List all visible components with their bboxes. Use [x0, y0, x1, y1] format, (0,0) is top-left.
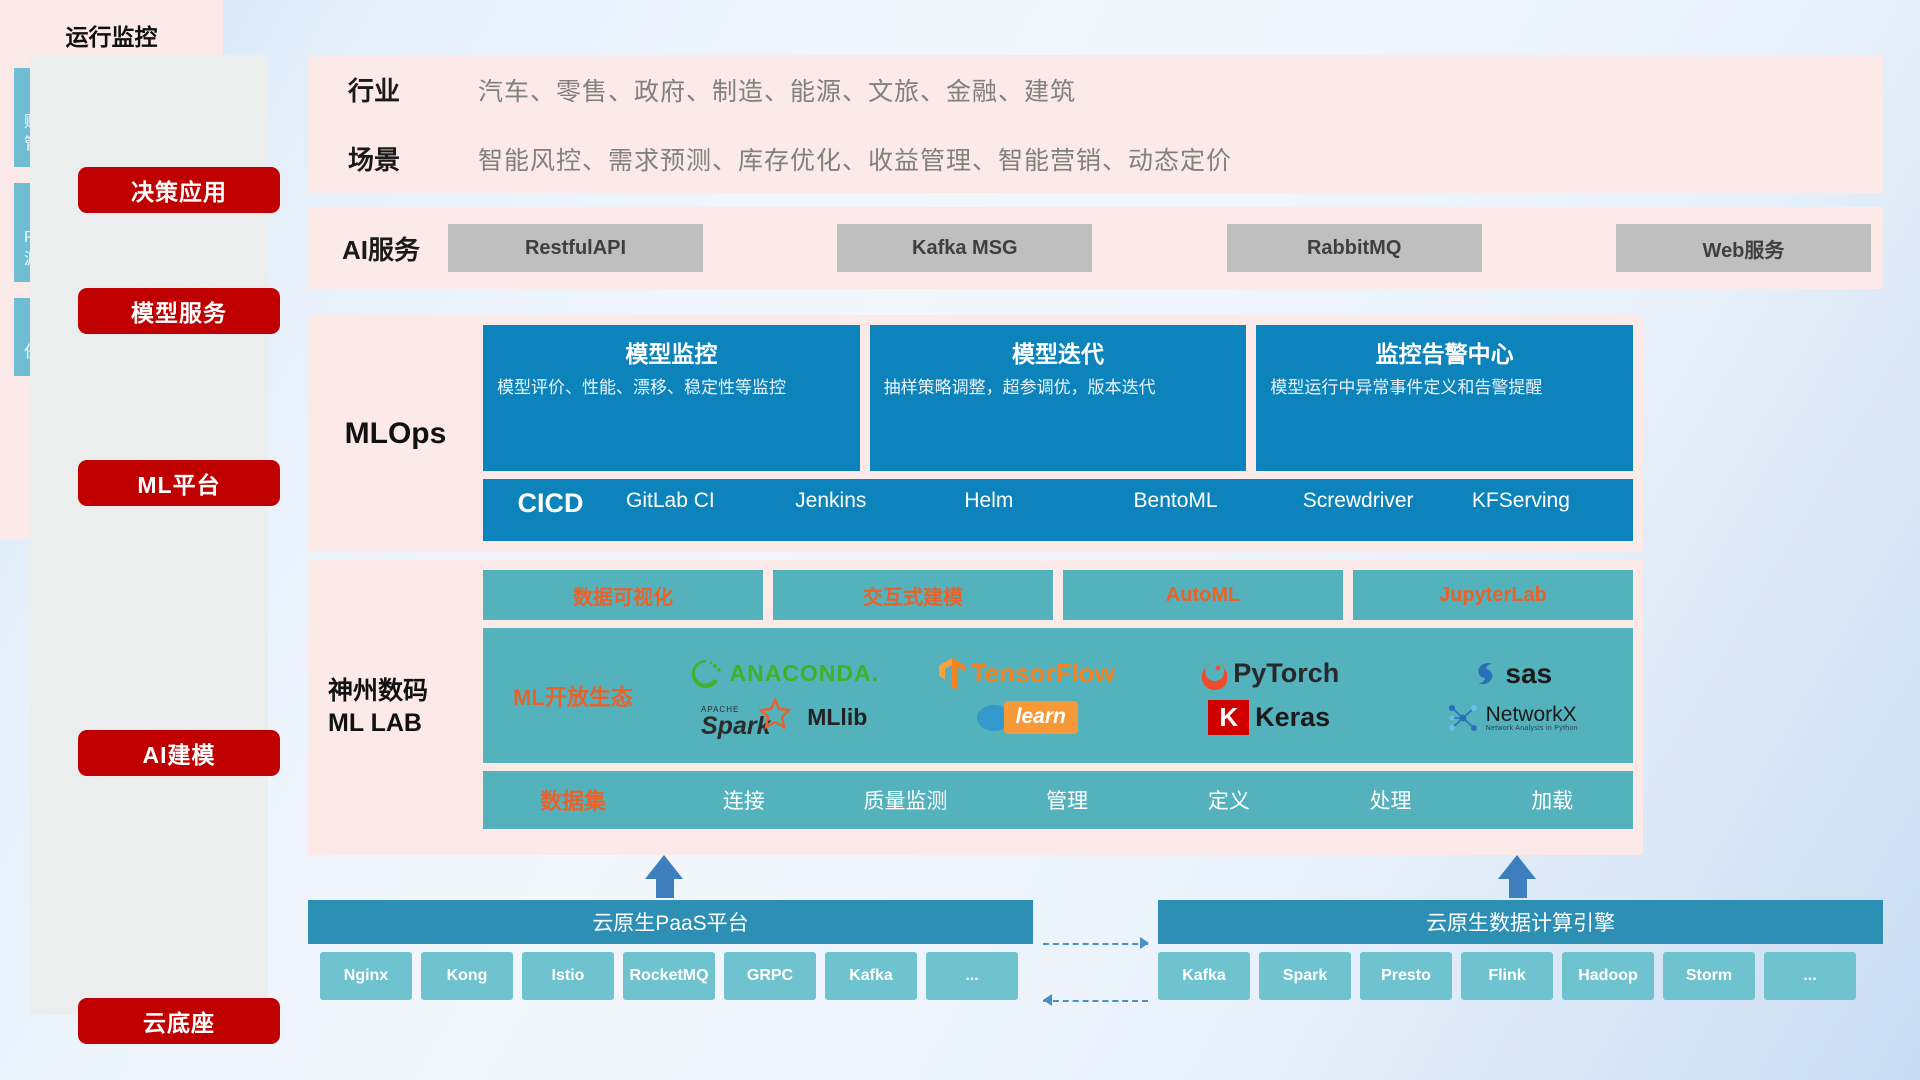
tab-data-visualization[interactable]: 数据可视化 — [483, 570, 763, 620]
scikit-learn-logo-text: learn — [1004, 701, 1078, 734]
scenario-label: 场景 — [348, 140, 478, 177]
ml-open-ecosystem-label: ML开放生态 — [483, 680, 663, 712]
scikit-learn-logo[interactable]: learn — [906, 701, 1149, 735]
mlops-label: MLOps — [308, 315, 483, 552]
cicd-item-jenkins[interactable]: Jenkins — [787, 488, 956, 514]
dataset-item-group: 连接 质量监测 管理 定义 处理 加载 — [663, 785, 1633, 815]
ml-lab-content: 数据可视化 交互式建模 AutoML JupyterLab ML开放生态 A — [483, 560, 1643, 855]
scenario-row: 场景 智能风控、需求预测、库存优化、收益管理、智能营销、动态定价 — [308, 124, 1883, 193]
card-desc: 抽样策略调整，超参调优，版本迭代 — [884, 377, 1233, 400]
data-pill-hadoop[interactable]: Hadoop — [1562, 952, 1654, 1000]
paas-pill-rocketmq[interactable]: RocketMQ — [623, 952, 715, 1000]
mlops-band: MLOps 模型监控 模型评价、性能、漂移、稳定性等监控 模型迭代 抽样策略调整… — [308, 315, 1643, 552]
pytorch-logo-text: PyTorch — [1233, 658, 1339, 689]
card-title: 监控告警中心 — [1270, 335, 1619, 369]
layer-chip-cloud-base[interactable]: 云底座 — [78, 998, 280, 1044]
layer-chip-label: ML平台 — [137, 466, 220, 500]
sas-logo[interactable]: sas — [1391, 658, 1634, 690]
networkx-logo-subtitle: Network Analysis in Python — [1486, 725, 1578, 732]
dataset-row: 数据集 连接 质量监测 管理 定义 处理 加载 — [483, 771, 1633, 829]
ai-service-chip-kafka-msg[interactable]: Kafka MSG — [837, 224, 1092, 272]
layer-chip-label: 模型服务 — [131, 294, 227, 328]
cicd-item-kfserving[interactable]: KFServing — [1464, 488, 1633, 514]
data-pill-kafka[interactable]: Kafka — [1158, 952, 1250, 1000]
data-pill-flink[interactable]: Flink — [1461, 952, 1553, 1000]
keras-logo[interactable]: K Keras — [1148, 700, 1391, 735]
data-pill-more[interactable]: ... — [1764, 952, 1856, 1000]
mlops-card-model-iteration[interactable]: 模型迭代 抽样策略调整，超参调优，版本迭代 — [870, 325, 1247, 471]
mlops-card-group: 模型监控 模型评价、性能、漂移、稳定性等监控 模型迭代 抽样策略调整，超参调优，… — [483, 325, 1633, 471]
ai-service-chip-rabbitmq[interactable]: RabbitMQ — [1227, 224, 1482, 272]
paas-arrow-stem — [656, 878, 674, 898]
data-engine-bar[interactable]: 云原生数据计算引擎 — [1158, 900, 1883, 944]
dataset-item-connect[interactable]: 连接 — [663, 785, 825, 815]
layer-chip-label: AI建模 — [143, 736, 216, 770]
layer-chip-model-service[interactable]: 模型服务 — [78, 288, 280, 334]
dataset-item-management[interactable]: 管理 — [986, 785, 1148, 815]
ai-service-chip-restfulapi[interactable]: RestfulAPI — [448, 224, 703, 272]
data-engine-arrow-stem — [1509, 878, 1527, 898]
engine-link-backward-arrow-icon — [1043, 994, 1052, 1006]
ml-lab-band: 神州数码 ML LAB 数据可视化 交互式建模 AutoML JupyterLa… — [308, 560, 1643, 855]
ai-service-chip-group: RestfulAPI Kafka MSG RabbitMQ Web服务 — [448, 224, 1883, 272]
ml-lab-label: 神州数码 ML LAB — [308, 560, 483, 855]
ml-lab-label-line1: 神州数码 — [328, 676, 428, 707]
layer-chip-label: 决策应用 — [131, 173, 227, 207]
layer-rail: 决策应用 模型服务 ML平台 AI建模 云底座 — [30, 55, 268, 1015]
pytorch-logo[interactable]: PyTorch — [1148, 658, 1391, 690]
engine-link-forward-arrow-icon — [1140, 937, 1149, 949]
cicd-item-screwdriver[interactable]: Screwdriver — [1295, 488, 1464, 514]
tab-automl[interactable]: AutoML — [1063, 570, 1343, 620]
paas-engine-bar[interactable]: 云原生PaaS平台 — [308, 900, 1033, 944]
ecosystem-logo-grid: ANACONDA. TensorFlow — [663, 652, 1633, 740]
paas-pill-istio[interactable]: Istio — [522, 952, 614, 1000]
ai-service-band: AI服务 RestfulAPI Kafka MSG RabbitMQ Web服务 — [308, 207, 1883, 289]
paas-arrow-up-icon — [645, 855, 683, 879]
ai-service-label: AI服务 — [308, 230, 448, 267]
data-pill-storm[interactable]: Storm — [1663, 952, 1755, 1000]
decision-apps-band: 行业 汽车、零售、政府、制造、能源、文旅、金融、建筑 场景 智能风控、需求预测、… — [308, 55, 1883, 193]
mlops-content: 模型监控 模型评价、性能、漂移、稳定性等监控 模型迭代 抽样策略调整，超参调优，… — [483, 315, 1643, 552]
paas-pill-kafka[interactable]: Kafka — [825, 952, 917, 1000]
keras-mark: K — [1208, 700, 1249, 735]
dataset-item-definition[interactable]: 定义 — [1148, 785, 1310, 815]
layer-chip-ml-platform[interactable]: ML平台 — [78, 460, 280, 506]
engine-link-forward — [1043, 943, 1148, 945]
mlops-card-model-monitoring[interactable]: 模型监控 模型评价、性能、漂移、稳定性等监控 — [483, 325, 860, 471]
networkx-logo[interactable]: NetworkX Network Analysis in Python — [1391, 702, 1634, 734]
data-engine-component-group: Kafka Spark Presto Flink Hadoop Storm ..… — [1158, 952, 1856, 1000]
tab-interactive-modeling[interactable]: 交互式建模 — [773, 570, 1053, 620]
svg-text:Spark: Spark — [701, 712, 772, 740]
data-pill-presto[interactable]: Presto — [1360, 952, 1452, 1000]
anaconda-logo-text: ANACONDA. — [729, 660, 879, 687]
cicd-item-gitlab-ci[interactable]: GitLab CI — [618, 488, 787, 514]
industry-value: 汽车、零售、政府、制造、能源、文旅、金融、建筑 — [478, 72, 1076, 108]
dataset-item-loading[interactable]: 加载 — [1471, 785, 1633, 815]
layer-chip-decision-apps[interactable]: 决策应用 — [78, 167, 280, 213]
industry-label: 行业 — [348, 71, 478, 108]
runtime-monitor-title: 运行监控 — [14, 18, 209, 52]
card-desc: 模型运行中异常事件定义和告警提醒 — [1270, 377, 1619, 400]
anaconda-logo[interactable]: ANACONDA. — [663, 657, 906, 691]
paas-pill-kong[interactable]: Kong — [421, 952, 513, 1000]
layer-chip-ai-modeling[interactable]: AI建模 — [78, 730, 280, 776]
data-pill-spark[interactable]: Spark — [1259, 952, 1351, 1000]
industry-row: 行业 汽车、零售、政府、制造、能源、文旅、金融、建筑 — [308, 55, 1883, 124]
paas-pill-more[interactable]: ... — [926, 952, 1018, 1000]
paas-pill-grpc[interactable]: GRPC — [724, 952, 816, 1000]
ml-lab-label-line2: ML LAB — [328, 708, 422, 739]
tab-jupyterlab[interactable]: JupyterLab — [1353, 570, 1633, 620]
ai-service-chip-web-service[interactable]: Web服务 — [1616, 224, 1871, 272]
dataset-item-processing[interactable]: 处理 — [1310, 785, 1472, 815]
card-title: 模型监控 — [497, 335, 846, 369]
mlops-card-alert-center[interactable]: 监控告警中心 模型运行中异常事件定义和告警提醒 — [1256, 325, 1633, 471]
ml-open-ecosystem-row: ML开放生态 ANACONDA. — [483, 628, 1633, 763]
architecture-diagram: 决策应用 模型服务 ML平台 AI建模 云底座 行业 汽车、零售、政府、制造、能… — [0, 0, 1920, 1080]
spark-mllib-logo[interactable]: APACHE Spark MLlib — [663, 696, 906, 740]
tensorflow-logo-text: TensorFlow — [971, 658, 1115, 689]
cicd-item-bentoml[interactable]: BentoML — [1126, 488, 1295, 514]
mllib-logo-text: MLlib — [807, 704, 867, 731]
paas-pill-nginx[interactable]: Nginx — [320, 952, 412, 1000]
paas-component-group: Nginx Kong Istio RocketMQ GRPC Kafka ... — [320, 952, 1018, 1000]
keras-logo-text: Keras — [1255, 702, 1330, 733]
dataset-label: 数据集 — [483, 784, 663, 816]
networkx-logo-text: NetworkX — [1486, 704, 1578, 725]
scenario-value: 智能风控、需求预测、库存优化、收益管理、智能营销、动态定价 — [478, 141, 1232, 177]
layer-chip-label: 云底座 — [143, 1004, 215, 1038]
data-engine-arrow-up-icon — [1498, 855, 1536, 879]
card-desc: 模型评价、性能、漂移、稳定性等监控 — [497, 377, 846, 400]
cicd-title: CICD — [483, 488, 618, 519]
engine-link-backward — [1043, 1000, 1148, 1002]
dataset-item-quality-monitoring[interactable]: 质量监测 — [825, 785, 987, 815]
card-title: 模型迭代 — [884, 335, 1233, 369]
cicd-strip: CICD GitLab CI Jenkins Helm BentoML Scre… — [483, 479, 1633, 541]
cicd-item-helm[interactable]: Helm — [956, 488, 1125, 514]
ml-lab-tab-group: 数据可视化 交互式建模 AutoML JupyterLab — [483, 570, 1633, 620]
sas-logo-text: sas — [1505, 658, 1552, 690]
tensorflow-logo[interactable]: TensorFlow — [906, 658, 1149, 690]
